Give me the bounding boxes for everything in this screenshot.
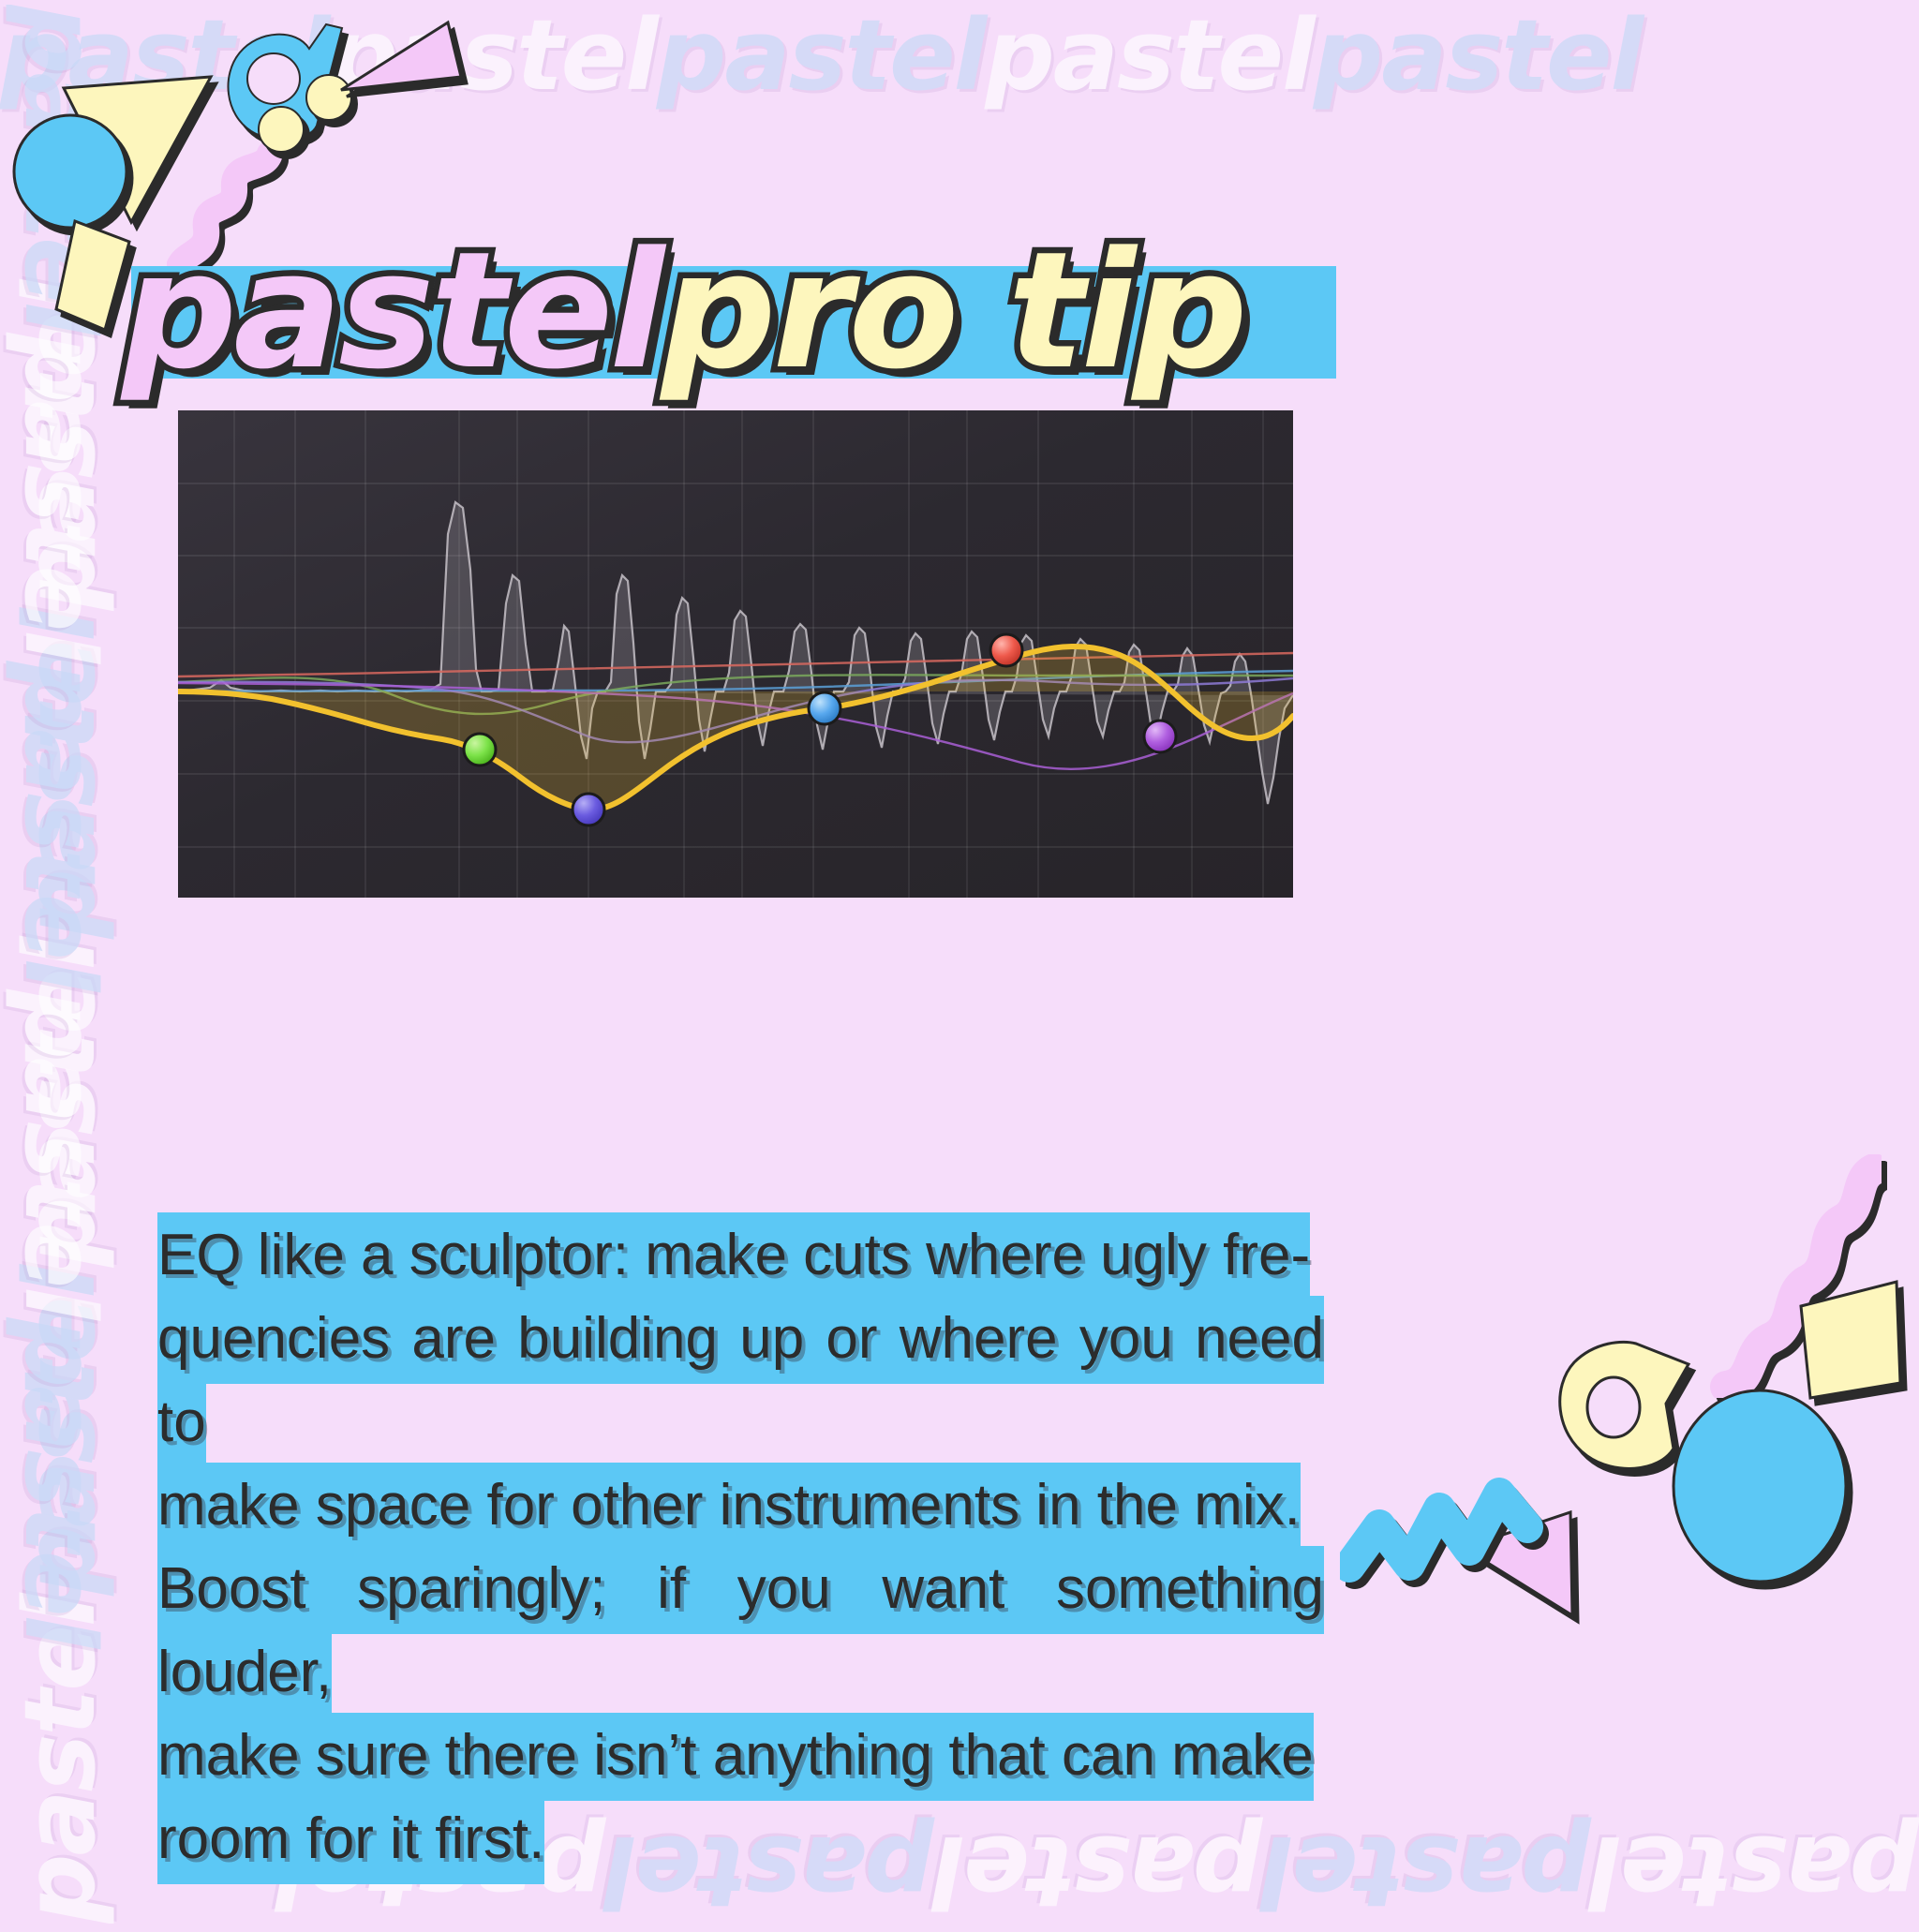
pink-squiggle-bottom-right xyxy=(1703,1154,1882,1398)
body-line-text: make space for other instruments in the … xyxy=(157,1463,1301,1551)
body-text-block: EQ like a sculptor: make cuts where ugly… xyxy=(157,1213,1324,1880)
yellow-rect-bottom-right xyxy=(1786,1267,1908,1407)
watermark-word: pastel xyxy=(657,0,985,112)
eq-spectrum-panel[interactable] xyxy=(178,410,1293,898)
blue-letter-d-icon xyxy=(216,21,347,142)
watermark-word: pastel xyxy=(3,1318,117,1646)
body-line-text: EQ like a sculptor: make cuts where ugly… xyxy=(157,1212,1310,1300)
body-line: quencies are building up or where you ne… xyxy=(157,1297,1324,1464)
watermark-strip-left: pastelpastelpastelpastelpastel xyxy=(0,5,121,1924)
title-word-pastel: pastel xyxy=(122,216,661,405)
watermark-word: pastel xyxy=(3,1267,117,1595)
band-4-node-red[interactable] xyxy=(990,634,1022,666)
body-line-text: Boost sparingly; if you want something l… xyxy=(157,1546,1324,1717)
eq-chart-svg[interactable] xyxy=(178,410,1293,898)
watermark-word: pastel xyxy=(985,0,1313,112)
body-line: Boost sparingly; if you want something l… xyxy=(157,1547,1324,1714)
band-5-node-magenta[interactable] xyxy=(1144,721,1176,752)
yellow-letter-o-icon xyxy=(1546,1338,1705,1479)
pink-triangle-top xyxy=(337,17,469,111)
watermark-strip-right: pastelpastelpastelpastelpastel xyxy=(0,5,121,1924)
body-line-text: quencies are building up or where you ne… xyxy=(157,1296,1324,1467)
watermark-word: pastel xyxy=(3,282,117,610)
body-line: make space for other instruments in the … xyxy=(157,1464,1324,1547)
watermark-word: pastel xyxy=(3,1596,117,1924)
title-text: pastelpro tip xyxy=(122,217,1434,414)
page-title: pastelpro tip xyxy=(122,217,1434,414)
watermark-word: pastel xyxy=(3,989,117,1317)
title-word-protip: pro tip xyxy=(661,216,1243,405)
watermark-word: pastel xyxy=(3,661,117,989)
blue-circle-bottom-right xyxy=(1670,1387,1857,1593)
band-3-node-blue[interactable] xyxy=(809,692,840,724)
watermark-word: pastel xyxy=(3,5,117,333)
body-line-text: make sure there isn’t anything that can … xyxy=(157,1713,1314,1801)
watermark-word: pastel xyxy=(1314,0,1642,112)
watermark-strip-top: pastelpastelpastelpastelpastel xyxy=(0,0,1919,116)
watermark-word: pastel xyxy=(3,333,117,661)
pink-triangle-bottom xyxy=(1458,1503,1627,1625)
yellow-dot-top-a xyxy=(257,105,309,157)
watermark-word: pastel xyxy=(328,0,656,112)
yellow-triangle-top-left xyxy=(56,39,216,227)
body-line: EQ like a sculptor: make cuts where ugly… xyxy=(157,1213,1324,1297)
body-line: make sure there isn’t anything that can … xyxy=(157,1714,1324,1797)
watermark-word: pastel xyxy=(1591,1814,1919,1928)
band-2-node-purple[interactable] xyxy=(573,794,604,825)
blue-circle-top-left xyxy=(11,112,133,234)
yellow-dot-top-b xyxy=(305,73,357,126)
watermark-word: pastel xyxy=(3,610,117,938)
band-1-node-green[interactable] xyxy=(464,734,496,765)
body-line-text: room for it first. xyxy=(157,1796,544,1884)
watermark-word: pastel xyxy=(3,939,117,1267)
watermark-word: pastel xyxy=(0,0,328,112)
blue-zigzag-bottom xyxy=(1340,1415,1546,1593)
body-line: room for it first. xyxy=(157,1797,1324,1880)
